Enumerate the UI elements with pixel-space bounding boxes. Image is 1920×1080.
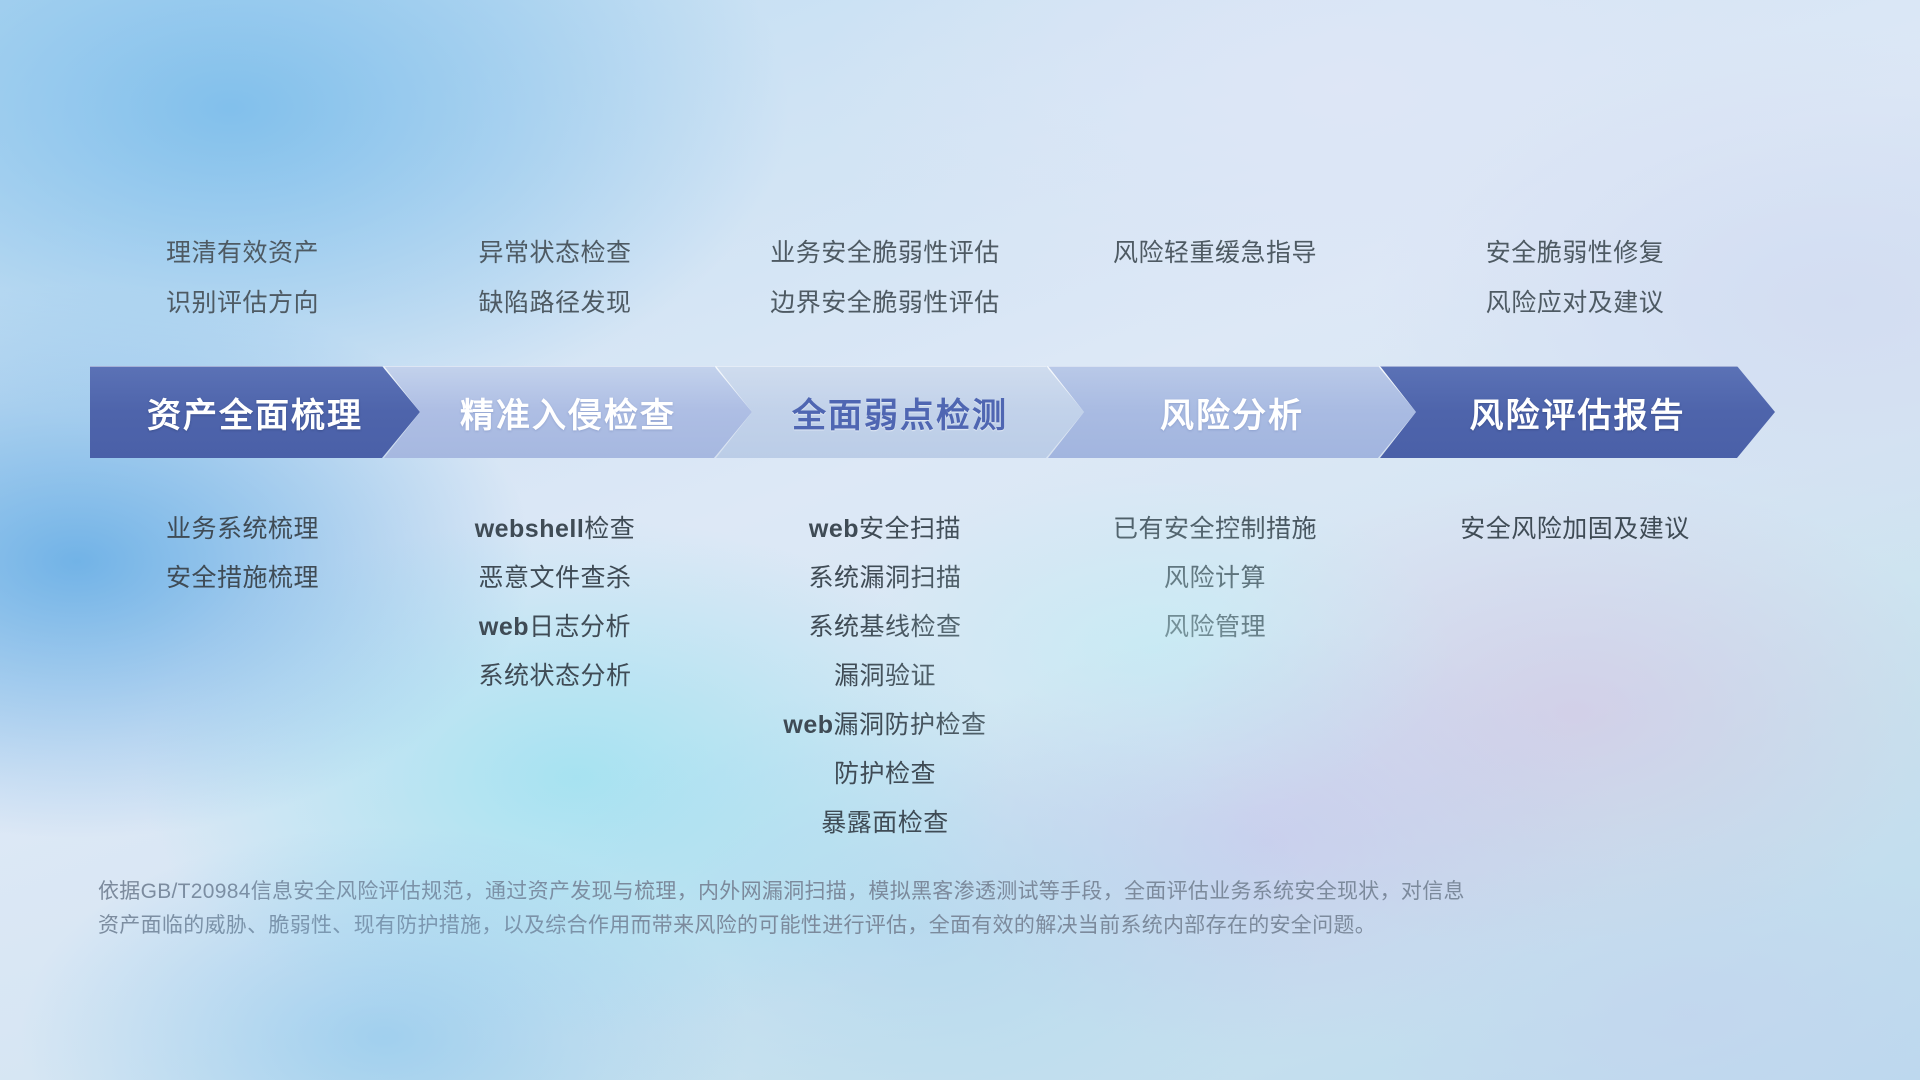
bottom-note-text: 检查 <box>584 515 635 543</box>
chevron-stage-2-label: 精准入侵检查 <box>460 388 676 437</box>
top-note: 缺陷路径发现 <box>390 278 720 328</box>
bottom-note: 系统基线检查 <box>720 603 1050 652</box>
top-note: 异常状态检查 <box>390 228 720 278</box>
bottom-notes-stage-4: 已有安全控制措施 风险计算 风险管理 <box>1050 505 1380 848</box>
bottom-notes-stage-1: 业务系统梳理 安全措施梳理 <box>95 505 390 848</box>
bottom-notes-stage-3: web安全扫描 系统漏洞扫描 系统基线检查 漏洞验证 web漏洞防护检查 防护检… <box>720 505 1050 848</box>
bottom-note-text: 防护检查 <box>834 760 936 788</box>
risk-assessment-process-diagram: 理清有效资产 识别评估方向 异常状态检查 缺陷路径发现 业务安全脆弱性评估 边界… <box>0 0 1920 1080</box>
bottom-note-text: 业务系统梳理 <box>166 515 319 543</box>
bottom-note-text: 系统状态分析 <box>478 662 631 690</box>
bottom-note: 暴露面检查 <box>720 799 1050 848</box>
bottom-note: 业务系统梳理 <box>95 505 390 554</box>
top-notes-stage-3: 业务安全脆弱性评估 边界安全脆弱性评估 <box>720 228 1050 328</box>
bottom-note: webshell检查 <box>390 505 720 554</box>
top-note: 风险应对及建议 <box>1380 278 1770 328</box>
chevron-stage-4-label: 风险分析 <box>1160 388 1304 437</box>
bottom-note: web安全扫描 <box>720 505 1050 554</box>
process-chevron-band: 资产全面梳理 精准入侵检查 全面弱点检测 风险分析 风险评估报告 <box>90 366 1845 458</box>
bottom-note-prefix: web <box>479 613 529 641</box>
bottom-note: web日志分析 <box>390 603 720 652</box>
bottom-note: web漏洞防护检查 <box>720 701 1050 750</box>
bottom-notes-stage-2: webshell检查 恶意文件查杀 web日志分析 系统状态分析 <box>390 505 720 848</box>
bottom-note-prefix: web <box>809 515 859 543</box>
bottom-note-text: 系统基线检查 <box>808 613 961 641</box>
bottom-note: 系统状态分析 <box>390 652 720 701</box>
bottom-note: 系统漏洞扫描 <box>720 554 1050 603</box>
chevron-stage-1-label: 资产全面梳理 <box>147 388 363 437</box>
bottom-note-text: 风险管理 <box>1164 613 1266 641</box>
bottom-note-text: 系统漏洞扫描 <box>808 564 961 592</box>
bottom-note-prefix: web <box>783 711 833 739</box>
top-note: 业务安全脆弱性评估 <box>720 228 1050 278</box>
bottom-note: 漏洞验证 <box>720 652 1050 701</box>
top-note: 安全脆弱性修复 <box>1380 228 1770 278</box>
footer-line-2: 资产面临的威胁、脆弱性、现有防护措施，以及综合作用而带来风险的可能性进行评估，全… <box>98 909 1608 943</box>
bottom-notes-row: 业务系统梳理 安全措施梳理 webshell检查 恶意文件查杀 web日志分析 … <box>95 505 1835 848</box>
top-notes-stage-4: 风险轻重缓急指导 <box>1050 228 1380 328</box>
top-notes-stage-2: 异常状态检查 缺陷路径发现 <box>390 228 720 328</box>
bottom-note: 安全措施梳理 <box>95 554 390 603</box>
bottom-note-text: 安全扫描 <box>859 515 961 543</box>
top-notes-stage-5: 安全脆弱性修复 风险应对及建议 <box>1380 228 1770 328</box>
chevron-stage-5[interactable]: 风险评估报告 <box>1380 366 1775 458</box>
top-notes-row: 理清有效资产 识别评估方向 异常状态检查 缺陷路径发现 业务安全脆弱性评估 边界… <box>95 228 1835 328</box>
bottom-note-text: 漏洞验证 <box>834 662 936 690</box>
footer-line-1: 依据GB/T20984信息安全风险评估规范，通过资产发现与梳理，内外网漏洞扫描，… <box>98 875 1608 909</box>
bottom-note-text: 暴露面检查 <box>821 809 949 837</box>
bottom-note: 恶意文件查杀 <box>390 554 720 603</box>
bottom-note-text: 已有安全控制措施 <box>1113 515 1317 543</box>
top-note: 理清有效资产 <box>95 228 390 278</box>
bottom-note-text: 风险计算 <box>1164 564 1266 592</box>
bottom-note-text: 恶意文件查杀 <box>478 564 631 592</box>
bottom-note-text: 安全措施梳理 <box>166 564 319 592</box>
top-note: 识别评估方向 <box>95 278 390 328</box>
bottom-notes-stage-5: 安全风险加固及建议 <box>1380 505 1770 848</box>
chevron-stage-3[interactable]: 全面弱点检测 <box>716 366 1084 458</box>
bottom-note: 风险管理 <box>1050 603 1380 652</box>
top-note: 风险轻重缓急指导 <box>1050 228 1380 278</box>
bottom-note-text: 安全风险加固及建议 <box>1460 515 1690 543</box>
bottom-note: 风险计算 <box>1050 554 1380 603</box>
bottom-note-prefix: webshell <box>475 515 585 543</box>
chevron-stage-5-label: 风险评估报告 <box>1470 388 1686 437</box>
bottom-note: 安全风险加固及建议 <box>1380 505 1770 554</box>
bottom-note-text: 漏洞防护检查 <box>834 711 987 739</box>
chevron-stage-2[interactable]: 精准入侵检查 <box>384 366 752 458</box>
bottom-note: 防护检查 <box>720 750 1050 799</box>
chevron-stage-1[interactable]: 资产全面梳理 <box>90 366 420 458</box>
chevron-stage-3-label: 全面弱点检测 <box>792 388 1008 437</box>
chevron-stage-4[interactable]: 风险分析 <box>1048 366 1416 458</box>
top-notes-stage-1: 理清有效资产 识别评估方向 <box>95 228 390 328</box>
bottom-note-text: 日志分析 <box>529 613 631 641</box>
top-note: 边界安全脆弱性评估 <box>720 278 1050 328</box>
bottom-note: 已有安全控制措施 <box>1050 505 1380 554</box>
footer-description: 依据GB/T20984信息安全风险评估规范，通过资产发现与梳理，内外网漏洞扫描，… <box>98 875 1608 943</box>
